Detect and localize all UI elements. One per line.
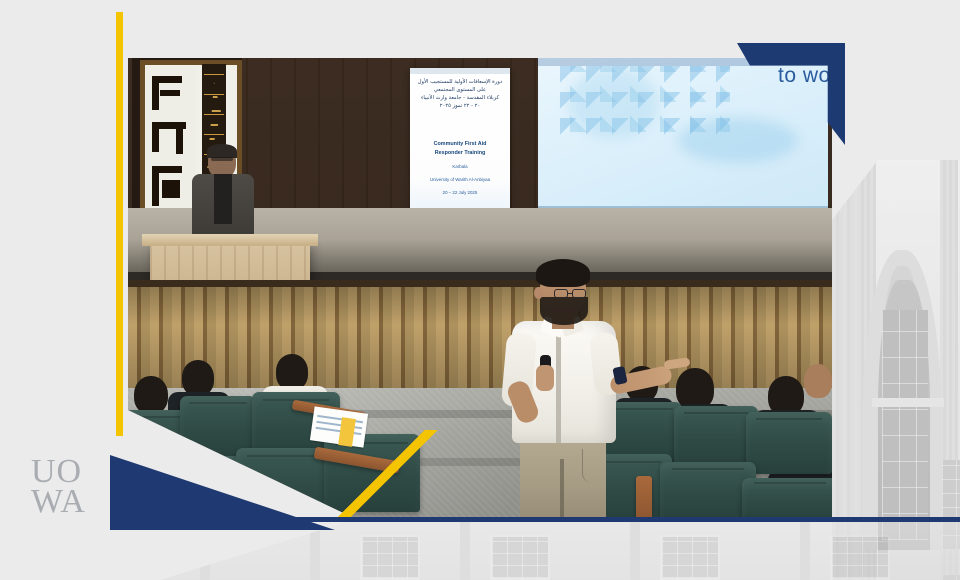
banner-title-line-2: Responder Training (414, 149, 506, 158)
speaker-hand-holding-mic (536, 365, 554, 391)
projector-screen: to worse outc (538, 58, 828, 210)
auditorium-seat (746, 412, 832, 474)
bottom-watermark-window-2 (490, 535, 550, 580)
uowa-logo: UO WA (31, 455, 126, 525)
seated-official-glasses-icon (211, 157, 233, 161)
attendee-head (276, 354, 308, 390)
poster-canvas: to worse outc دورة الإسعافات الأولية للم… (0, 0, 960, 580)
wainscot-top-rail (128, 280, 832, 287)
wainscot-shading (128, 280, 832, 392)
bottom-watermark-column-4 (630, 521, 640, 580)
watermark-glass-grid (882, 310, 928, 540)
speaker-beard (540, 297, 588, 325)
bottom-watermark-window-1 (360, 535, 420, 580)
seated-official-shirt (214, 174, 232, 224)
bottom-watermark-column-3 (460, 521, 470, 580)
banner-arabic-block: دورة الإسعافات الأولية للمستجيب الأول عل… (414, 78, 506, 110)
banner-arabic-line-4: ٢٠ - ٢٢ تموز ٢٠٢٥ (414, 102, 506, 110)
uowa-logo-line-2: WA (31, 485, 86, 519)
speaker-hair (536, 259, 590, 287)
navy-divider-rule (160, 517, 960, 522)
banner-city: Karbala (414, 163, 506, 171)
seated-official-hair (207, 144, 237, 158)
slide-blob-1 (678, 118, 798, 163)
attendee-head (804, 364, 832, 398)
speaker-shirt-placket (556, 325, 561, 443)
banner-title-line-1: Community First Aid (414, 140, 506, 149)
wristwatch (612, 366, 627, 385)
podium-top-ledge (142, 234, 318, 246)
attendee-head (134, 376, 168, 414)
attendee-head (182, 360, 214, 396)
slide-blob-2 (568, 68, 658, 138)
yellow-accent-line-diagonal (116, 430, 656, 518)
bottom-watermark-column-5 (800, 521, 810, 580)
watermark-balcony (872, 398, 944, 407)
banner-english-block: Community First Aid Responder Training K… (414, 140, 506, 197)
banner-dates: 20 – 22 July 2025 (414, 189, 506, 197)
banner-arabic-line-1: دورة الإسعافات الأولية للمستجيب الأول (414, 78, 506, 86)
auditorium-seat (742, 478, 832, 521)
speaker-ear (534, 287, 543, 299)
banner-arabic-line-2: على المستوى المجتمعي (414, 86, 506, 94)
bottom-watermark-window-4 (830, 535, 890, 580)
bottom-watermark-window-3 (660, 535, 720, 580)
yellow-accent-line-vertical (116, 12, 123, 436)
eyeglasses-icon (554, 289, 588, 298)
banner-top-rail (410, 68, 510, 74)
banner-arabic-line-3: كربلاء المقدسة - جامعة وارث الأنبياء (414, 94, 506, 102)
slide-visible-text: to worse outc (778, 64, 832, 88)
banner-university: University of Warith Al-Anbiyaa (414, 176, 506, 184)
